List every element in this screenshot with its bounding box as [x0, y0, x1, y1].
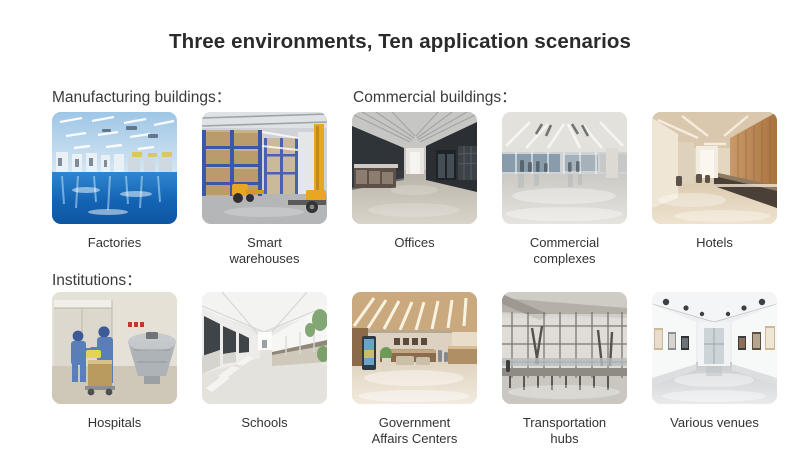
school-open-corridor-photo — [202, 292, 327, 404]
scenario-card-factories[interactable]: Factories — [52, 112, 177, 267]
scenario-row-2: Hospitals — [52, 292, 774, 447]
scenario-card-smart-warehouses[interactable]: Smart warehouses — [202, 112, 327, 267]
scenario-caption: Government Affairs Centers — [372, 415, 458, 447]
page-title: Three environments, Ten application scen… — [0, 30, 800, 54]
hotel-lobby-reception-photo — [652, 112, 777, 224]
factory-cleanroom-photo — [52, 112, 177, 224]
scenario-caption: Commercial complexes — [530, 235, 599, 267]
section-header-institutions: Institutions： — [52, 268, 142, 290]
section-header-manufacturing: Manufacturing buildings： — [52, 85, 231, 107]
scenario-caption: Offices — [394, 235, 434, 251]
scenario-card-commercial-complexes[interactable]: Commercial complexes — [502, 112, 627, 267]
warehouse-racking-forklift-photo — [202, 112, 327, 224]
hospital-cleanroom-staff-photo — [52, 292, 177, 404]
scenario-card-government-affairs-centers[interactable]: Government Affairs Centers — [352, 292, 477, 447]
scenario-card-hospitals[interactable]: Hospitals — [52, 292, 177, 447]
scenario-card-various-venues[interactable]: Various venues — [652, 292, 777, 447]
scenarios-infographic: Three environments, Ten application scen… — [0, 0, 800, 455]
scenario-caption: Factories — [88, 235, 141, 251]
scenario-caption: Various venues — [670, 415, 759, 431]
transport-hub-glass-facade-photo — [502, 292, 627, 404]
scenario-row-1: Factories — [52, 112, 774, 267]
art-gallery-interior-photo — [652, 292, 777, 404]
scenario-card-offices[interactable]: Offices — [352, 112, 477, 267]
government-service-hall-photo — [352, 292, 477, 404]
scenario-card-transportation-hubs[interactable]: Transportation hubs — [502, 292, 627, 447]
scenario-caption: Smart warehouses — [229, 235, 299, 267]
scenario-caption: Hospitals — [88, 415, 141, 431]
scenario-caption: Hotels — [696, 235, 733, 251]
scenario-caption: Transportation hubs — [523, 415, 606, 447]
scenario-caption: Schools — [241, 415, 287, 431]
office-corridor-photo — [352, 112, 477, 224]
scenario-card-schools[interactable]: Schools — [202, 292, 327, 447]
section-header-commercial: Commercial buildings： — [353, 85, 517, 107]
shopping-mall-atrium-photo — [502, 112, 627, 224]
scenario-card-hotels[interactable]: Hotels — [652, 112, 777, 267]
